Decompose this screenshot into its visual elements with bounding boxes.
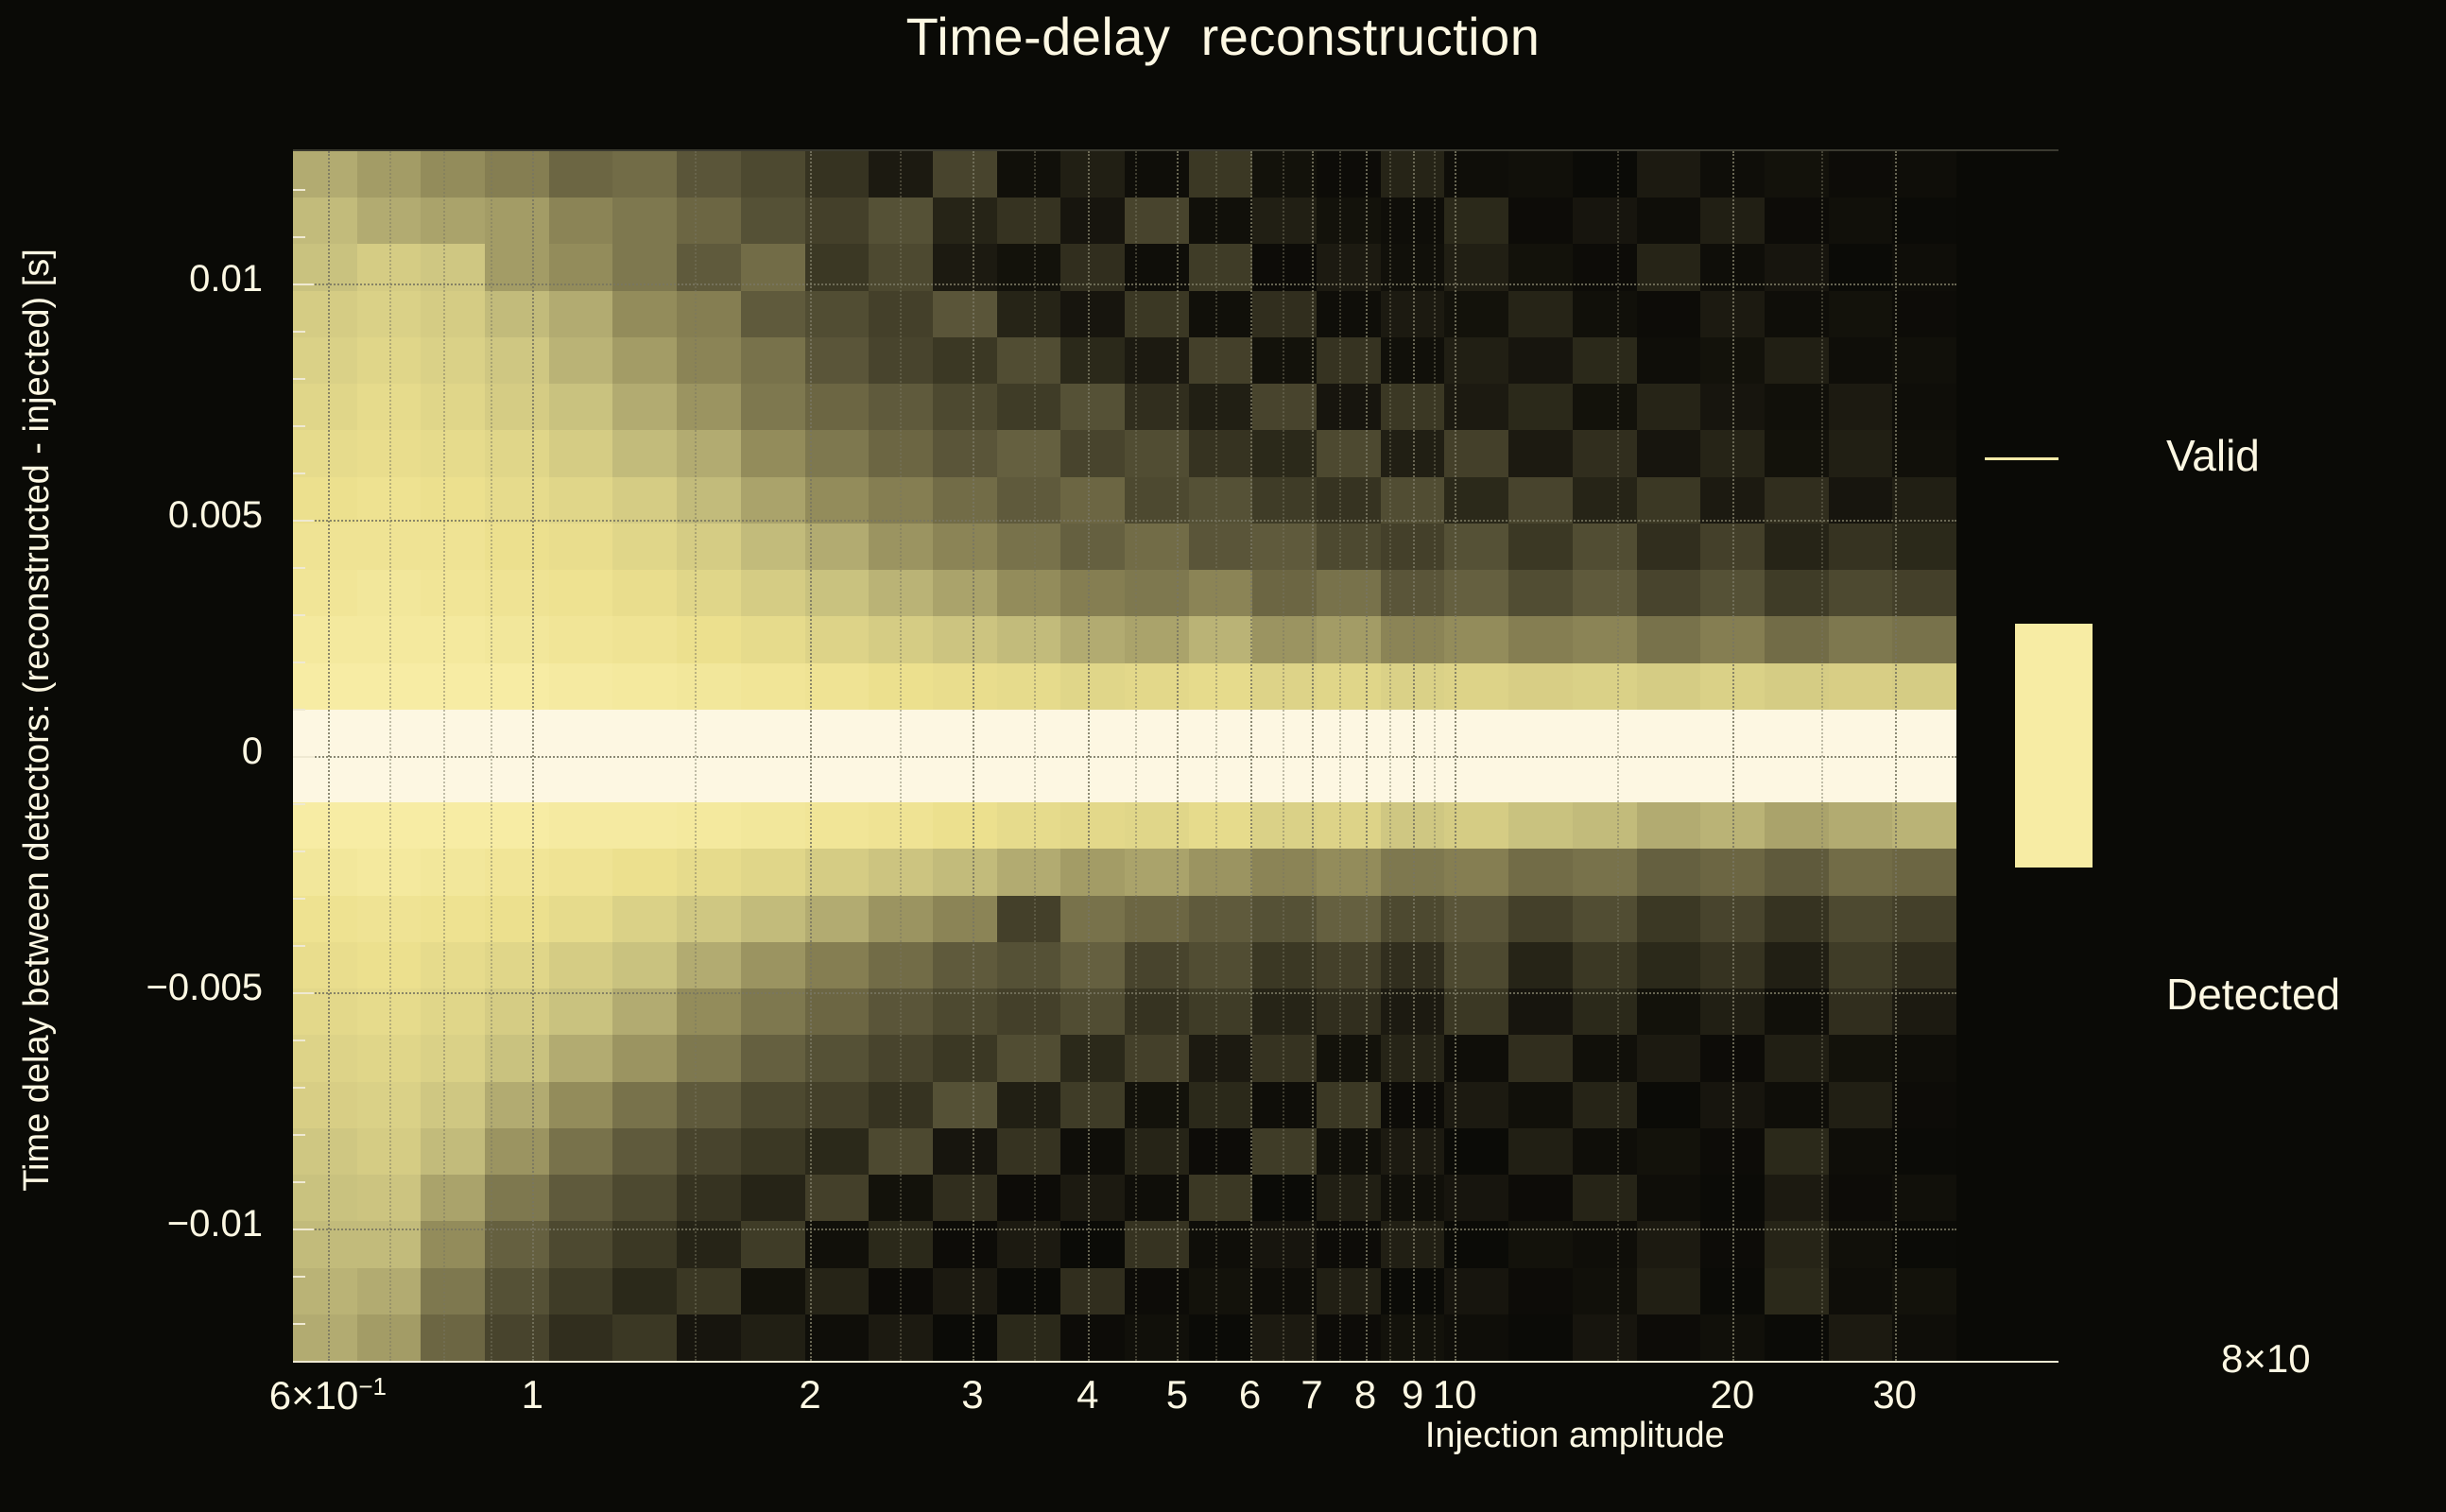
heatmap-cell [1060, 384, 1125, 430]
heatmap-cell [612, 1221, 677, 1268]
heatmap-cell [1829, 1035, 1892, 1082]
heatmap-cell [1444, 198, 1508, 244]
heatmap-cell [1381, 337, 1444, 384]
heatmap-cell [1317, 616, 1381, 663]
heatmap-cell [805, 291, 869, 337]
heatmap-cell [869, 1035, 933, 1082]
x-tick-label: 10 [1433, 1372, 1477, 1417]
heatmap-cell [485, 849, 549, 896]
heatmap-cell [1892, 337, 1956, 384]
heatmap-cell [485, 616, 549, 663]
heatmap-cell [1444, 244, 1508, 291]
heatmap-cell [677, 1035, 741, 1082]
heatmap-cell [741, 384, 805, 430]
heatmap-cell [1573, 756, 1637, 802]
heatmap-cell [1700, 1268, 1765, 1314]
heatmap-cell [805, 616, 869, 663]
heatmap-cell [421, 663, 485, 710]
heatmap-cell [869, 477, 933, 524]
heatmap-cell [1508, 430, 1573, 477]
heatmap-cell [1700, 477, 1765, 524]
legend-detected-label: Detected [2166, 969, 2340, 1020]
heatmap-cell [997, 1314, 1060, 1361]
heatmap-cell [869, 710, 933, 756]
heatmap-cell [612, 616, 677, 663]
heatmap-cell [741, 1082, 805, 1128]
heatmap-cell [1125, 802, 1189, 849]
heatmap-cell [1765, 570, 1829, 616]
heatmap-cell [357, 1082, 421, 1128]
heatmap-cell [1444, 1035, 1508, 1082]
heatmap-cell [933, 337, 997, 384]
heatmap-cell [485, 1128, 549, 1175]
heatmap-cell [1381, 151, 1444, 198]
heatmap-cell [1444, 1175, 1508, 1221]
heatmap-cell [1573, 1268, 1637, 1314]
heatmap-cell [1381, 1128, 1444, 1175]
heatmap-cell [1829, 802, 1892, 849]
heatmap-cell [1637, 1175, 1700, 1221]
heatmap-cell [805, 337, 869, 384]
x-tick-label: 7 [1301, 1372, 1322, 1417]
heatmap-cell [1189, 942, 1252, 988]
heatmap-cell [1189, 710, 1252, 756]
heatmap-cell [1508, 802, 1573, 849]
heatmap-cell [1700, 896, 1765, 942]
heatmap-cell [1508, 151, 1573, 198]
heatmap-cell [741, 337, 805, 384]
heatmap-cell [869, 1314, 933, 1361]
heatmap-cell [485, 384, 549, 430]
heatmap-cell [741, 477, 805, 524]
heatmap-cell [1508, 1128, 1573, 1175]
heatmap-cell [805, 1314, 869, 1361]
heatmap-cell [1637, 1128, 1700, 1175]
heatmap-cell [1317, 1268, 1381, 1314]
heatmap-cell [549, 1221, 612, 1268]
heatmap-cell [612, 244, 677, 291]
heatmap-cell [1508, 198, 1573, 244]
heatmap-cell [1573, 384, 1637, 430]
heatmap-cell [997, 151, 1060, 198]
heatmap-cell [1060, 337, 1125, 384]
y-tick-minor [293, 236, 305, 238]
heatmap-cell [741, 942, 805, 988]
heatmap-cell [485, 1082, 549, 1128]
heatmap-cell [1508, 384, 1573, 430]
heatmap-cell [1317, 524, 1381, 570]
heatmap-cell [805, 1221, 869, 1268]
heatmap-cell [1125, 1082, 1189, 1128]
heatmap-cell [1060, 756, 1125, 802]
x-tick-label: 9 [1402, 1372, 1423, 1417]
heatmap-cell [421, 198, 485, 244]
heatmap-cell [1892, 1314, 1956, 1361]
heatmap-cell [421, 1175, 485, 1221]
heatmap-cell [1189, 756, 1252, 802]
heatmap-cell [485, 1221, 549, 1268]
heatmap-cell [1892, 1035, 1956, 1082]
heatmap-cell [997, 524, 1060, 570]
heatmap-cell [1060, 1175, 1125, 1221]
heatmap-cell [1317, 849, 1381, 896]
heatmap-cell [1700, 198, 1765, 244]
heatmap-cell [1573, 1128, 1637, 1175]
heatmap-cell [997, 291, 1060, 337]
heatmap-cell [1060, 802, 1125, 849]
heatmap-cell [1765, 1035, 1829, 1082]
heatmap-cell [1637, 384, 1700, 430]
heatmap-cell [933, 663, 997, 710]
heatmap-cell [997, 1082, 1060, 1128]
heatmap-cell [1700, 1314, 1765, 1361]
heatmap-cell [869, 337, 933, 384]
heatmap-cell [1252, 710, 1317, 756]
heatmap-cell [1700, 524, 1765, 570]
heatmap-cell [1060, 849, 1125, 896]
heatmap-cell [1573, 291, 1637, 337]
heatmap-cell [933, 756, 997, 802]
heatmap-cell [1317, 1314, 1381, 1361]
heatmap-cell [1444, 942, 1508, 988]
heatmap-cell [869, 663, 933, 710]
heatmap-cell [1892, 802, 1956, 849]
heatmap-cell [357, 151, 421, 198]
heatmap-cell [1829, 1082, 1892, 1128]
heatmap-cell [1637, 430, 1700, 477]
heatmap-cell [1765, 198, 1829, 244]
heatmap-cell [1573, 1221, 1637, 1268]
heatmap-cell [549, 430, 612, 477]
heatmap-cell [1700, 616, 1765, 663]
heatmap-cell [1189, 988, 1252, 1035]
heatmap-cell [677, 244, 741, 291]
y-tick-minor [293, 709, 305, 711]
heatmap-cell [1381, 849, 1444, 896]
heatmap-cell [357, 570, 421, 616]
heatmap-cell [933, 1221, 997, 1268]
heatmap-cell [485, 942, 549, 988]
heatmap-cell [1189, 151, 1252, 198]
heatmap-cell [1252, 244, 1317, 291]
heatmap-cell [612, 151, 677, 198]
heatmap-cell [1317, 1082, 1381, 1128]
heatmap-cell [1892, 710, 1956, 756]
heatmap-cell [677, 942, 741, 988]
heatmap-cell [357, 524, 421, 570]
heatmap-cell [1765, 337, 1829, 384]
heatmap-cell [933, 291, 997, 337]
heatmap-cell [1637, 896, 1700, 942]
heatmap-cell [1573, 1035, 1637, 1082]
heatmap-cell [933, 430, 997, 477]
heatmap-cell [612, 849, 677, 896]
axis-spine-bottom [293, 1361, 2058, 1363]
heatmap-cell [1637, 1082, 1700, 1128]
heatmap-cell [1829, 151, 1892, 198]
heatmap-cell [421, 384, 485, 430]
heatmap-cell [869, 430, 933, 477]
heatmap-cell [293, 384, 357, 430]
heatmap-cell [805, 430, 869, 477]
y-tick-minor [293, 425, 305, 427]
heatmap-cell [485, 1035, 549, 1082]
y-tick-minor [293, 850, 305, 852]
heatmap-cell [997, 1175, 1060, 1221]
heatmap-cell [293, 849, 357, 896]
heatmap-cell [293, 1082, 357, 1128]
heatmap-cell [549, 151, 612, 198]
heatmap-cell [933, 384, 997, 430]
heatmap-cell [1125, 570, 1189, 616]
heatmap-cell [677, 663, 741, 710]
heatmap-cell [869, 896, 933, 942]
heatmap-cell [421, 710, 485, 756]
heatmap-cell [612, 1035, 677, 1082]
heatmap-cell [485, 477, 549, 524]
heatmap-cell [1125, 1221, 1189, 1268]
heatmap-cell [933, 988, 997, 1035]
heatmap-cell [805, 524, 869, 570]
heatmap-cell [1892, 1175, 1956, 1221]
heatmap-cell [741, 430, 805, 477]
heatmap-cell [357, 198, 421, 244]
heatmap-cell [549, 942, 612, 988]
heatmap-cell [1189, 430, 1252, 477]
heatmap-cell [677, 1268, 741, 1314]
heatmap-cell [1573, 198, 1637, 244]
y-tick-label: −0.005 [146, 967, 263, 1009]
heatmap-cell [421, 477, 485, 524]
heatmap-cell [1829, 1268, 1892, 1314]
heatmap-cell [549, 291, 612, 337]
heatmap-cell [1444, 1221, 1508, 1268]
heatmap-cell [1700, 430, 1765, 477]
heatmap-cell [677, 802, 741, 849]
heatmap-cell [869, 1082, 933, 1128]
heatmap-cell [1125, 1035, 1189, 1082]
heatmap-plot-area[interactable] [293, 151, 1956, 1361]
heatmap-cell [549, 896, 612, 942]
y-tick-minor [293, 992, 305, 994]
heatmap-cell [1829, 849, 1892, 896]
heatmap-cell [933, 616, 997, 663]
heatmap-cell [1317, 988, 1381, 1035]
heatmap-cell [485, 570, 549, 616]
heatmap-cell [1508, 1175, 1573, 1221]
heatmap-cell [1381, 198, 1444, 244]
heatmap-cell [421, 616, 485, 663]
heatmap-cell [1444, 616, 1508, 663]
heatmap-cell [1189, 570, 1252, 616]
heatmap-cell [933, 1128, 997, 1175]
heatmap-cell [549, 524, 612, 570]
heatmap-cell [549, 710, 612, 756]
heatmap-cell [1637, 849, 1700, 896]
heatmap-cell [741, 896, 805, 942]
heatmap-cell [1252, 198, 1317, 244]
heatmap-cell [1508, 244, 1573, 291]
heatmap-cell [612, 291, 677, 337]
heatmap-cell [421, 1082, 485, 1128]
heatmap-cell [805, 1035, 869, 1082]
heatmap-cell [741, 1175, 805, 1221]
heatmap-cell [1125, 337, 1189, 384]
heatmap-cell [997, 384, 1060, 430]
heatmap-cell [1252, 988, 1317, 1035]
heatmap-cell [997, 1221, 1060, 1268]
heatmap-cell [1252, 524, 1317, 570]
heatmap-cell [1829, 756, 1892, 802]
heatmap-cell [1508, 710, 1573, 756]
heatmap-cell [1189, 1035, 1252, 1082]
heatmap-cell [1573, 663, 1637, 710]
heatmap-cell [1700, 710, 1765, 756]
heatmap-cell [1637, 244, 1700, 291]
heatmap-cell [1444, 477, 1508, 524]
heatmap-cell [805, 1175, 869, 1221]
heatmap-cell [1125, 756, 1189, 802]
heatmap-cell [1508, 849, 1573, 896]
heatmap-cell [933, 1035, 997, 1082]
legend: Valid Detected [1981, 0, 2446, 1512]
heatmap-cell [1637, 988, 1700, 1035]
heatmap-cell [612, 802, 677, 849]
heatmap-cell [1765, 896, 1829, 942]
heatmap-cell [1573, 988, 1637, 1035]
heatmap-cell [1317, 570, 1381, 616]
heatmap-cell [869, 988, 933, 1035]
heatmap-cell [997, 756, 1060, 802]
heatmap-cell [1829, 337, 1892, 384]
heatmap-cell [1700, 1035, 1765, 1082]
heatmap-cell [357, 1268, 421, 1314]
heatmap-cell [1252, 151, 1317, 198]
heatmap-cell [1765, 1082, 1829, 1128]
heatmap-cell [357, 291, 421, 337]
heatmap-cell [1573, 896, 1637, 942]
heatmap-cell [997, 849, 1060, 896]
y-axis-label: Time delay between detectors: (reconstru… [17, 68, 66, 1372]
legend-valid-label: Valid [2166, 430, 2260, 481]
heatmap-cell [485, 1314, 549, 1361]
heatmap-cell [1573, 616, 1637, 663]
y-tick-minor [293, 331, 305, 333]
y-tick-mark [293, 520, 314, 522]
heatmap-cell [1125, 151, 1189, 198]
heatmap-cell [1700, 1221, 1765, 1268]
heatmap-cell [997, 616, 1060, 663]
heatmap-cell [1573, 151, 1637, 198]
heatmap-cell [1700, 802, 1765, 849]
heatmap-cell [1444, 710, 1508, 756]
heatmap-cell [1444, 663, 1508, 710]
heatmap-cell [1573, 337, 1637, 384]
heatmap-cells [293, 151, 1956, 1361]
heatmap-cell [1829, 477, 1892, 524]
heatmap-cell [741, 802, 805, 849]
heatmap-cell [357, 942, 421, 988]
heatmap-cell [549, 1268, 612, 1314]
heatmap-cell [1317, 198, 1381, 244]
heatmap-cell [1765, 1175, 1829, 1221]
heatmap-cell [1189, 663, 1252, 710]
heatmap-cell [357, 430, 421, 477]
heatmap-cell [485, 1268, 549, 1314]
heatmap-cell [805, 1268, 869, 1314]
heatmap-cell [1892, 244, 1956, 291]
heatmap-cell [741, 1035, 805, 1082]
heatmap-cell [869, 1221, 933, 1268]
heatmap-cell [612, 1314, 677, 1361]
heatmap-cell [805, 477, 869, 524]
heatmap-cell [1444, 896, 1508, 942]
y-tick-minor [293, 1039, 305, 1041]
heatmap-cell [1060, 198, 1125, 244]
heatmap-cell [1508, 1035, 1573, 1082]
heatmap-cell [293, 663, 357, 710]
heatmap-cell [1765, 988, 1829, 1035]
heatmap-cell [1637, 1268, 1700, 1314]
heatmap-cell [741, 524, 805, 570]
heatmap-cell [1637, 756, 1700, 802]
heatmap-cell [1444, 1082, 1508, 1128]
heatmap-cell [805, 151, 869, 198]
y-tick-minor [293, 1323, 305, 1325]
heatmap-cell [677, 1221, 741, 1268]
heatmap-cell [293, 802, 357, 849]
heatmap-cell [1573, 570, 1637, 616]
heatmap-cell [869, 524, 933, 570]
heatmap-cell [1060, 524, 1125, 570]
heatmap-cell [677, 151, 741, 198]
heatmap-cell [677, 1128, 741, 1175]
heatmap-cell [485, 756, 549, 802]
heatmap-cell [933, 942, 997, 988]
y-tick-minor [293, 472, 305, 474]
heatmap-cell [1765, 524, 1829, 570]
heatmap-cell [1252, 430, 1317, 477]
heatmap-cell [933, 710, 997, 756]
heatmap-cell [1317, 710, 1381, 756]
heatmap-cell [1252, 663, 1317, 710]
heatmap-cell [805, 244, 869, 291]
heatmap-cell [1381, 570, 1444, 616]
heatmap-cell [1189, 1221, 1252, 1268]
heatmap-cell [357, 477, 421, 524]
heatmap-cell [1252, 1314, 1317, 1361]
heatmap-cell [357, 244, 421, 291]
heatmap-cell [1444, 1268, 1508, 1314]
heatmap-cell [549, 616, 612, 663]
heatmap-cell [1892, 1082, 1956, 1128]
heatmap-cell [1381, 756, 1444, 802]
heatmap-cell [1508, 477, 1573, 524]
heatmap-cell [1381, 1314, 1444, 1361]
heatmap-cell [293, 1314, 357, 1361]
heatmap-cell [1700, 244, 1765, 291]
heatmap-cell [612, 1268, 677, 1314]
heatmap-cell [1637, 1035, 1700, 1082]
heatmap-cell [677, 849, 741, 896]
heatmap-cell [677, 477, 741, 524]
heatmap-cell [1189, 291, 1252, 337]
heatmap-cell [997, 802, 1060, 849]
heatmap-cell [485, 988, 549, 1035]
heatmap-cell [997, 663, 1060, 710]
heatmap-cell [933, 524, 997, 570]
heatmap-cell [421, 1268, 485, 1314]
